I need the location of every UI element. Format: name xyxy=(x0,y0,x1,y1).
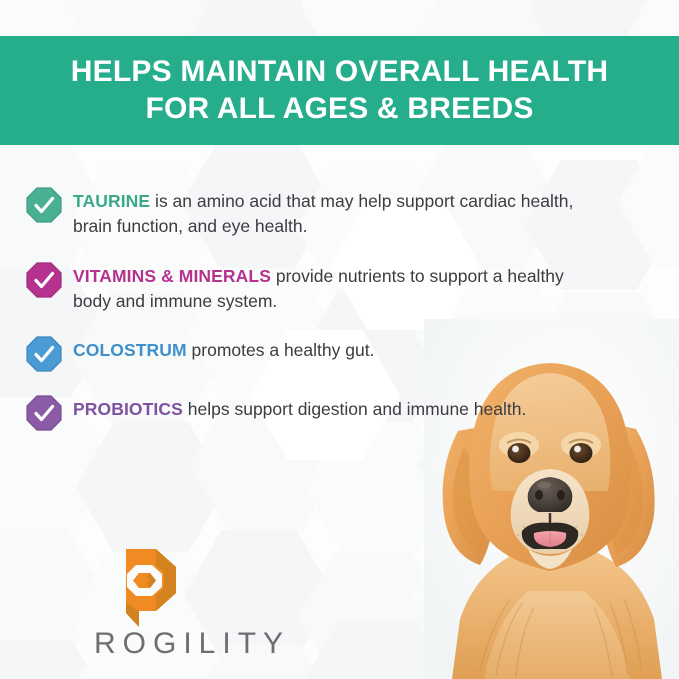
list-item-text: VITAMINS & MINERALS provide nutrients to… xyxy=(73,261,586,314)
check-badge-icon xyxy=(26,262,62,298)
list-item: TAURINE is an amino acid that may help s… xyxy=(26,186,586,239)
list-item-text: COLOSTRUM promotes a healthy gut. xyxy=(73,335,374,363)
list-item-description: helps support digestion and immune healt… xyxy=(183,399,526,419)
banner-headline-line-2: FOR ALL AGES & BREEDS xyxy=(145,91,533,128)
list-item-keyword: TAURINE xyxy=(73,191,150,211)
list-item-keyword: COLOSTRUM xyxy=(73,340,187,360)
header-banner: HELPS MAINTAIN OVERALL HEALTH FOR ALL AG… xyxy=(0,36,679,145)
list-item-text: PROBIOTICS helps support digestion and i… xyxy=(73,394,526,422)
banner-headline-line-1: HELPS MAINTAIN OVERALL HEALTH xyxy=(71,54,608,91)
check-badge-icon xyxy=(26,187,62,223)
check-badge-icon xyxy=(26,395,62,431)
brand-wordmark: ROGILITY xyxy=(94,627,290,661)
list-item-keyword: VITAMINS & MINERALS xyxy=(73,266,271,286)
list-item: PROBIOTICS helps support digestion and i… xyxy=(26,394,586,431)
product-infographic: HELPS MAINTAIN OVERALL HEALTH FOR ALL AG… xyxy=(0,0,679,679)
list-item-text: TAURINE is an amino acid that may help s… xyxy=(73,186,586,239)
list-item-description: promotes a healthy gut. xyxy=(187,340,375,360)
list-item: VITAMINS & MINERALS provide nutrients to… xyxy=(26,261,586,314)
progility-hexagon-p-logo xyxy=(106,543,182,631)
list-item: COLOSTRUM promotes a healthy gut. xyxy=(26,335,586,372)
brand-logo: ROGILITY xyxy=(100,543,290,661)
benefits-list: TAURINE is an amino acid that may help s… xyxy=(26,186,586,453)
list-item-keyword: PROBIOTICS xyxy=(73,399,183,419)
check-badge-icon xyxy=(26,336,62,372)
